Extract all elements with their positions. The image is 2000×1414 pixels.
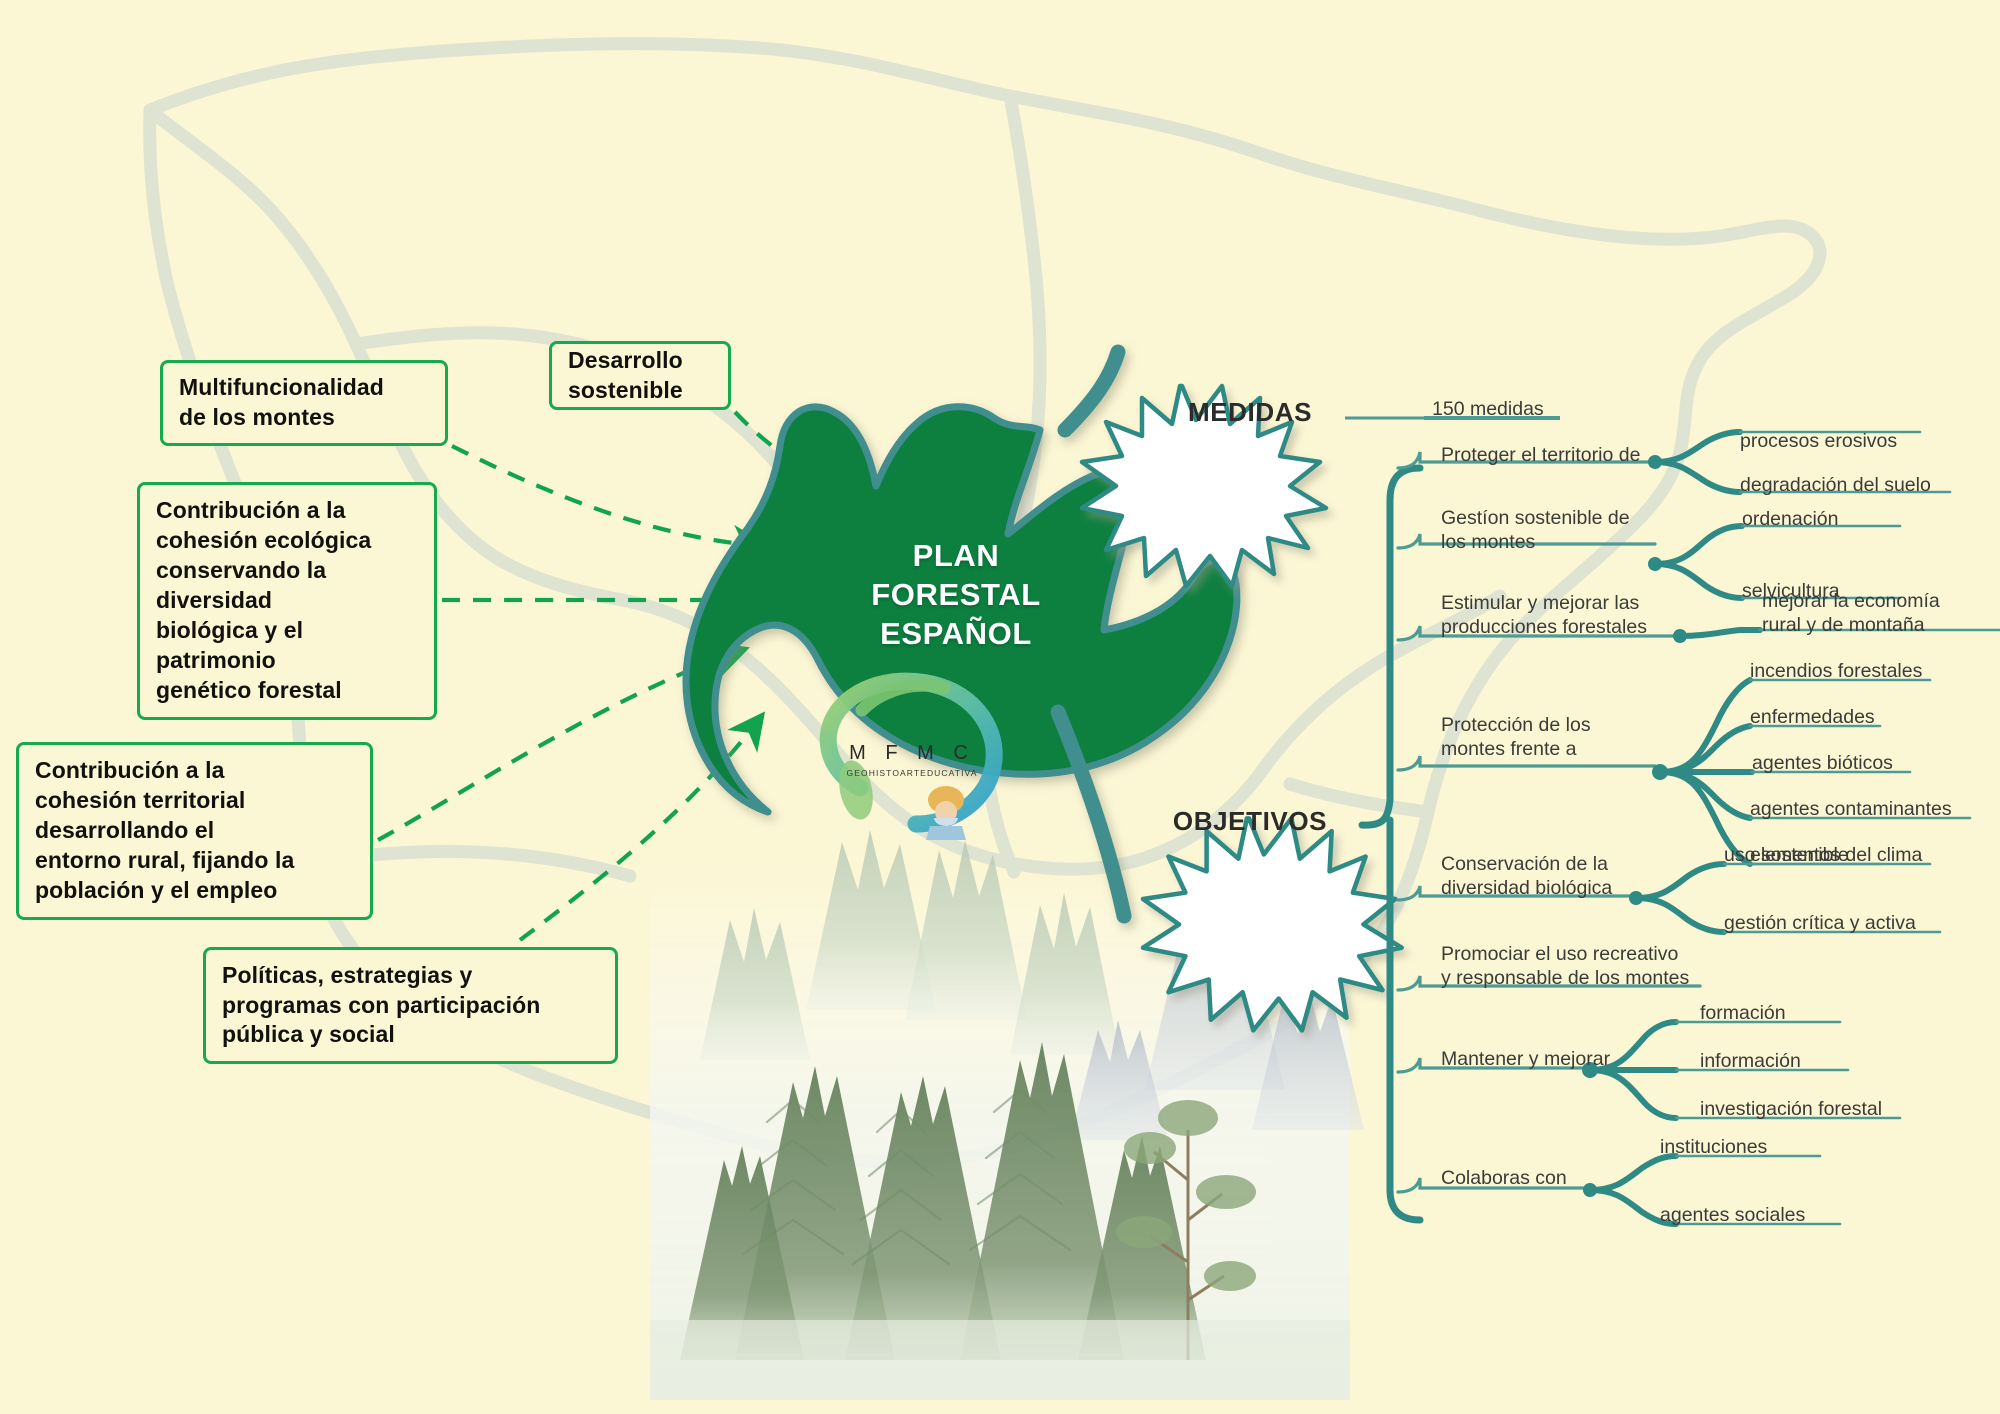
box-cohesion-ecologica[interactable]: Contribución a la cohesión ecológica con… [137,482,437,720]
objetivos-burst [1143,818,1402,1030]
leaf-agentes-bioticos: agentes bióticos [1752,752,1893,776]
branch-proteger-territorio: Proteger el territorio de [1441,444,1640,468]
branch-estimular-producciones: Estimular y mejorar las producciones for… [1441,592,1647,640]
plan-forestal-title: PLAN FORESTAL ESPAÑOL [836,536,1076,653]
box-politicas-label: Políticas, estrategias y programas con p… [222,961,540,1051]
objetivos-label[interactable]: OBJETIVOS [1140,806,1360,837]
objetivos-branch-lines [1362,468,1420,1220]
leaf-ordenacion: ordenación [1742,508,1839,532]
mfmc-logo-text: M F M C [832,742,992,765]
mfmc-logo: M F M C GEOHISTOARTEDUCATIVA [832,700,992,810]
arrow-desarrollo [735,412,872,500]
box-multifuncionalidad[interactable]: Multifuncionalidad de los montes [160,360,448,446]
arrow-politicas [520,718,760,940]
infographic-canvas: Multifuncionalidad de los montes Desarro… [0,0,2000,1414]
arrow-multifuncionalidad [452,446,762,546]
box-territorial-label: Contribución a la cohesión territorial d… [35,756,294,905]
medidas-branch-150: 150 medidas [1432,398,1544,422]
box-ecologica-label: Contribución a la cohesión ecológica con… [156,496,371,705]
leaf-procesos-erosivos: procesos erosivos [1740,430,1897,454]
branch-colaboras-con: Colaboras con [1441,1167,1567,1191]
plan-title-line2: FORESTAL [836,575,1076,614]
leaf-investigacion-forestal: investigación forestal [1700,1098,1882,1122]
watercolor-forest [650,830,1364,1400]
box-multifuncionalidad-label: Multifuncionalidad de los montes [179,373,384,433]
leaf-mejorar-economia-rural: mejorar la economía rural y de montaña [1762,590,1940,638]
plan-title-line3: ESPAÑOL [836,614,1076,653]
box-politicas-estrategias[interactable]: Políticas, estrategias y programas con p… [203,947,618,1064]
leaf-agentes-sociales: agentes sociales [1660,1204,1805,1228]
medidas-label[interactable]: MEDIDAS [1150,397,1350,428]
leaf-gestion-critica-activa: gestión crítica y activa [1724,912,1916,936]
leaf-agentes-contaminantes: agentes contaminantes [1750,798,1952,822]
leaf-uso-sostenible: uso sostenible [1724,844,1849,868]
plan-title-line1: PLAN [836,536,1076,575]
branch-conservacion-diversidad: Conservación de la diversidad biológica [1441,853,1612,901]
leaf-incendios-forestales: incendios forestales [1750,660,1922,684]
leaf-instituciones: instituciones [1660,1136,1767,1160]
branch-promociar-uso-recreativo: Promociar el uso recreativo y responsabl… [1441,943,1689,991]
leaf-informacion: información [1700,1050,1801,1074]
connector-arrows [378,412,872,940]
branch-proteccion-montes: Protección de los montes frente a [1441,714,1591,762]
branch-gestion-sostenible: Gestíon sostenible de los montes [1441,507,1630,555]
leaf-formacion: formación [1700,1002,1786,1026]
objetivos-level1-lines [1398,452,1700,1192]
leaf-enfermedades: enfermedades [1750,706,1875,730]
mfmc-logo-subtitle: GEOHISTOARTEDUCATIVA [832,768,992,778]
box-cohesion-territorial[interactable]: Contribución a la cohesión territorial d… [16,742,373,920]
leaf-degradacion-suelo: degradación del suelo [1740,474,1931,498]
box-desarrollo-sostenible[interactable]: Desarrollo sostenible [549,341,731,410]
branch-mantener-mejorar: Mantener y mejorar [1441,1048,1610,1072]
box-desarrollo-label: Desarrollo sostenible [568,346,683,406]
